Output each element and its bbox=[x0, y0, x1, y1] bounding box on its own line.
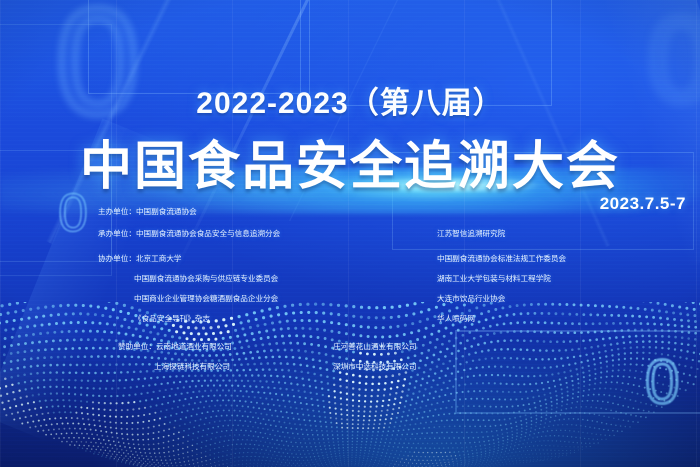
credit-row: 湖南工业大学包装与材料工程学院 bbox=[437, 275, 551, 283]
sponsor-value: 上海探链科技有限公司 bbox=[154, 362, 230, 371]
credits-block: 主办单位：中国副食流通协会 承办单位：中国副食流通协会食品安全与信息追溯分会 江… bbox=[0, 208, 700, 383]
sponsor-value: 庄河善花山酒业有限公司 bbox=[333, 342, 417, 351]
credit-value: 北京工商大学 bbox=[136, 254, 182, 263]
credit-row: 中国副食流通协会采购与供应链专业委员会 bbox=[134, 275, 278, 283]
credit-value: 华人喷码网 bbox=[437, 314, 475, 323]
credit-row: 主办单位：中国副食流通协会 bbox=[98, 208, 197, 216]
credit-value: 中国副食流通协会标准法规工作委员会 bbox=[437, 254, 566, 263]
sponsor-label: 赞助单位： bbox=[118, 343, 156, 351]
credit-value: 大连市饮品行业协会 bbox=[437, 294, 505, 303]
sponsor-row: 庄河善花山酒业有限公司 bbox=[333, 343, 417, 351]
edition-headline: 2022-2023（第八届） bbox=[0, 78, 700, 122]
sponsor-row: 上海探链科技有限公司 bbox=[154, 363, 230, 371]
credit-row: 华人喷码网 bbox=[437, 315, 475, 323]
credit-row: 承办单位：中国副食流通协会食品安全与信息追溯分会 bbox=[98, 230, 280, 238]
credit-row: 大连市饮品行业协会 bbox=[437, 295, 505, 303]
credit-row: 江苏智信追溯研究院 bbox=[437, 230, 505, 238]
credit-row: 中国副食流通协会标准法规工作委员会 bbox=[437, 255, 566, 263]
credit-label: 承办单位： bbox=[98, 230, 136, 238]
sponsor-row: 深圳市中选科技有限公司 bbox=[333, 363, 417, 371]
credit-value: 《食品安全导刊》杂志 bbox=[134, 314, 210, 323]
credit-row: 协办单位：北京工商大学 bbox=[98, 255, 182, 263]
credit-value: 江苏智信追溯研究院 bbox=[437, 229, 505, 238]
credit-value: 湖南工业大学包装与材料工程学院 bbox=[437, 274, 551, 283]
credit-row: 中国商业企业管理协会糖酒副食品企业分会 bbox=[134, 295, 278, 303]
sponsor-value: 云南地道酒业有限公司 bbox=[156, 342, 232, 351]
sponsor-row: 赞助单位：云南地道酒业有限公司 bbox=[118, 343, 232, 351]
credit-label: 主办单位： bbox=[98, 208, 136, 216]
credit-value: 中国副食流通协会食品安全与信息追溯分会 bbox=[136, 229, 280, 238]
credit-label: 协办单位： bbox=[98, 255, 136, 263]
credit-value: 中国副食流通协会 bbox=[136, 207, 197, 216]
conference-backdrop-poster: 0 0 0 0 2022-2023（第八届） 中国食品安全追溯大会 2023.7… bbox=[0, 0, 700, 467]
credit-value: 中国副食流通协会采购与供应链专业委员会 bbox=[134, 274, 278, 283]
credit-value: 中国商业企业管理协会糖酒副食品企业分会 bbox=[134, 294, 278, 303]
credit-row: 《食品安全导刊》杂志 bbox=[134, 315, 210, 323]
sponsor-value: 深圳市中选科技有限公司 bbox=[333, 362, 417, 371]
page-title: 中国食品安全追溯大会 bbox=[0, 124, 700, 199]
